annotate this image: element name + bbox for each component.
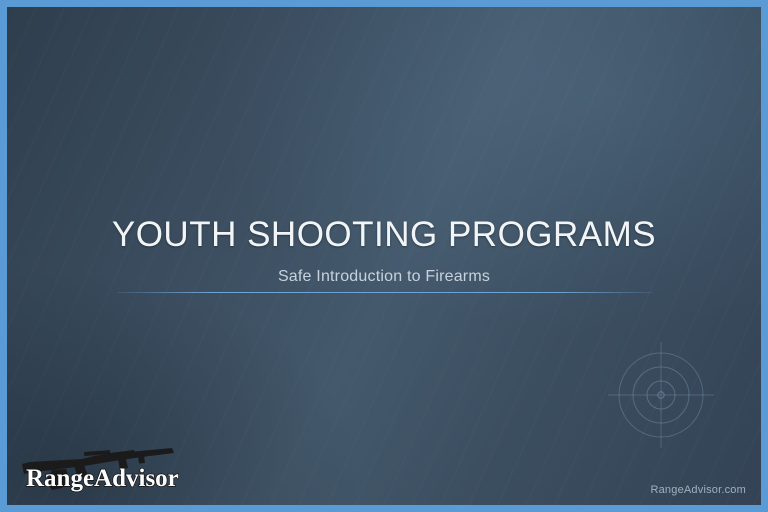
title-block: YOUTH SHOOTING PROGRAMS Safe Introductio… (0, 214, 768, 286)
slide-subtitle: Safe Introduction to Firearms (0, 268, 768, 286)
footer-website: RangeAdvisor.com (650, 484, 746, 496)
crosshair-target-icon (608, 342, 714, 448)
slide-title: YOUTH SHOOTING PROGRAMS (0, 214, 768, 256)
logo-wordmark: RangeAdvisor (26, 465, 179, 492)
brand-logo: RangeAdvisor (22, 432, 204, 498)
presentation-slide: YOUTH SHOOTING PROGRAMS Safe Introductio… (0, 0, 768, 512)
title-divider-rule (117, 292, 652, 293)
